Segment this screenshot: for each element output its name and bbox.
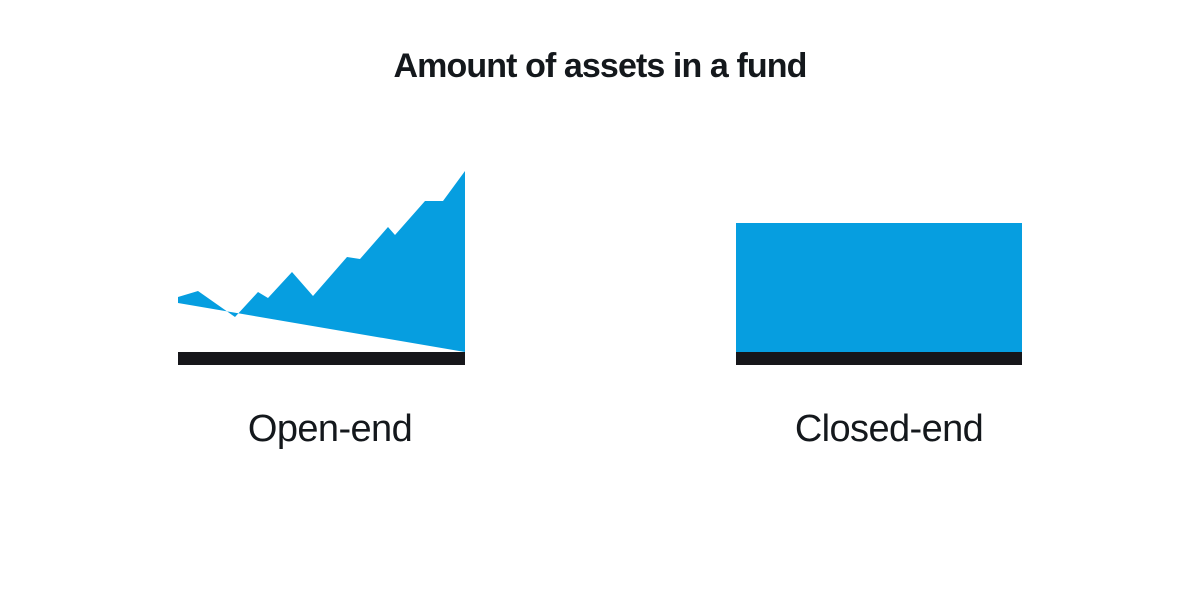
closed-end-area-series: [736, 223, 1022, 352]
panel-closed-end-label: Closed-end: [710, 407, 1050, 451]
panel-open-end: Open-end: [150, 150, 490, 451]
panel-open-end-label: Open-end: [150, 407, 490, 451]
open-end-chart: [150, 150, 490, 375]
panel-closed-end: Closed-end: [710, 150, 1050, 451]
closed-end-figure: [710, 150, 1050, 375]
open-end-baseline-bar: [178, 352, 465, 365]
closed-end-baseline-bar: [736, 352, 1022, 365]
open-end-figure: [150, 150, 490, 375]
open-end-area-series: [178, 171, 465, 352]
panel-group: Open-end Closed-end: [0, 0, 1200, 600]
closed-end-chart: [710, 150, 1050, 375]
infographic-root: Amount of assets in a fund Open-end Clos…: [0, 0, 1200, 600]
